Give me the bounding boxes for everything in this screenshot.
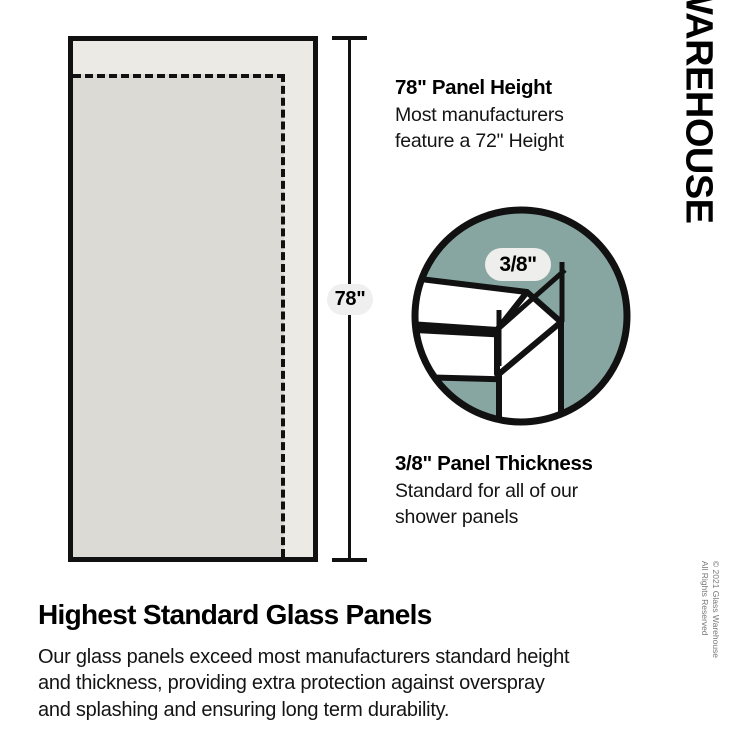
- footer-body-line1: Our glass panels exceed most manufacture…: [38, 644, 663, 671]
- copyright-line-1: © 2021 Glass Warehouse: [710, 561, 721, 658]
- footer-body-line3: and splashing and ensuring long term dur…: [38, 697, 663, 724]
- callout-panel-height: 78" Panel Height Most manufacturers feat…: [395, 76, 665, 154]
- footer-body-line2: and thickness, providing extra protectio…: [38, 670, 663, 697]
- footer-heading: Highest Standard Glass Panels: [38, 600, 663, 631]
- panel-right-edge-strip: [284, 74, 313, 557]
- callout-panel-thickness: 3/8" Panel Thickness Standard for all of…: [395, 452, 665, 530]
- shower-panel-illustration: [68, 36, 318, 562]
- callout-height-title: 78" Panel Height: [395, 76, 665, 100]
- callout-thickness-body-line1: Standard for all of our: [395, 479, 665, 504]
- brand-wordmark-text: GLASSWAREHOUSE: [680, 0, 718, 224]
- dimension-cap-top: [332, 36, 367, 40]
- thickness-detail-label: 3/8": [485, 248, 551, 281]
- copyright-line-2: All Rights Reserved: [699, 561, 710, 658]
- thickness-detail-circle: 3/8": [409, 204, 633, 428]
- thickness-detail-drawing: [409, 204, 633, 428]
- callout-thickness-body-line2: shower panels: [395, 505, 665, 530]
- callout-height-body-line1: Most manufacturers: [395, 103, 665, 128]
- infographic-canvas: 78" 78" Panel Height Most manufacturers …: [0, 0, 755, 755]
- panel-top-edge-strip: [73, 41, 313, 74]
- brand-wordmark: GLASSWAREHOUSE: [639, 18, 755, 458]
- footer-block: Highest Standard Glass Panels Our glass …: [38, 600, 663, 724]
- callout-height-body-line2: feature a 72" Height: [395, 129, 665, 154]
- dimension-cap-bottom: [332, 558, 367, 562]
- callout-thickness-title: 3/8" Panel Thickness: [395, 452, 665, 476]
- height-dimension-label: 78": [327, 284, 373, 315]
- panel-inner-dashed-outline: [73, 74, 285, 557]
